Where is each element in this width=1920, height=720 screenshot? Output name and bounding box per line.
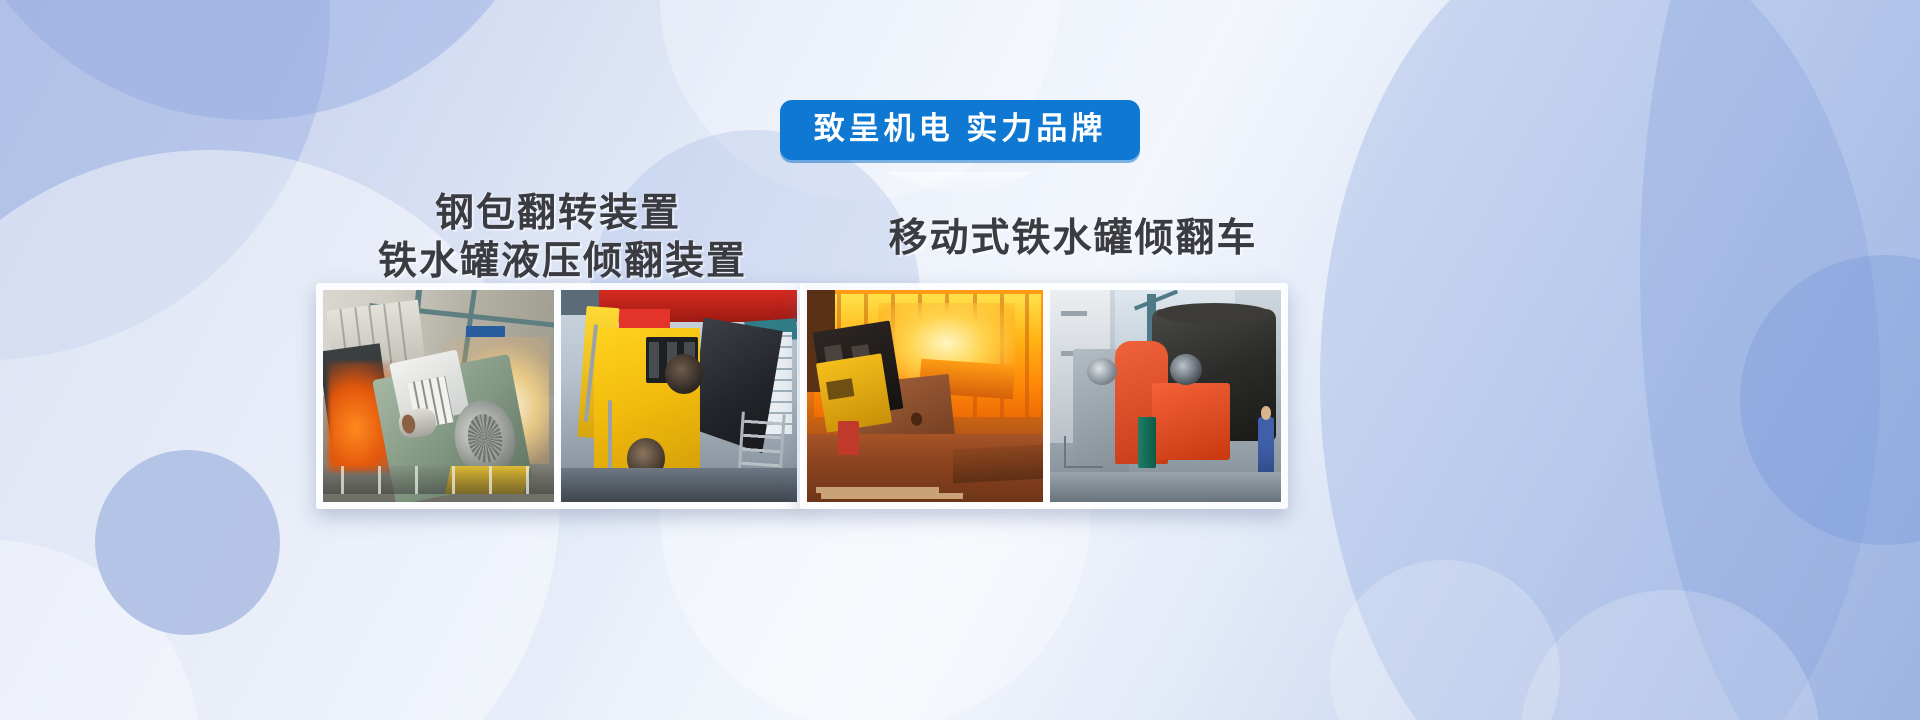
p3-concrete-ledge xyxy=(953,445,1043,484)
p3-red-clamp xyxy=(838,421,859,455)
photo-group-left xyxy=(316,283,804,509)
photo-1-image xyxy=(323,290,554,502)
photo-2[interactable] xyxy=(561,290,797,502)
photo-4[interactable] xyxy=(1050,290,1281,502)
p4-pivot-pin-left xyxy=(1087,358,1117,386)
photo-3[interactable] xyxy=(807,290,1043,502)
photo-2-image xyxy=(561,290,797,502)
p4-foundation xyxy=(1050,472,1281,502)
photo-3-image xyxy=(807,290,1043,502)
p1-handrail xyxy=(323,466,554,494)
banner-stage: 致呈机电 实力品牌 钢包翻转装置 铁水罐液压倾翻装置 移动式铁水罐倾翻车 xyxy=(0,0,1920,720)
p1-wall-sign xyxy=(466,326,505,337)
photo-4-image xyxy=(1050,290,1281,502)
photo-gallery xyxy=(0,0,1920,720)
p2-floor xyxy=(561,468,797,502)
p4-worker xyxy=(1258,417,1274,481)
photo-1[interactable] xyxy=(323,290,554,502)
p2-red-crane-beam xyxy=(599,290,797,322)
photo-group-right xyxy=(800,283,1288,509)
p4-green-cylinder xyxy=(1138,417,1156,468)
p4-orange-cradle xyxy=(1152,383,1231,459)
p2-trunnion-hub xyxy=(665,354,703,394)
p4-cable-conduit xyxy=(1064,436,1103,468)
